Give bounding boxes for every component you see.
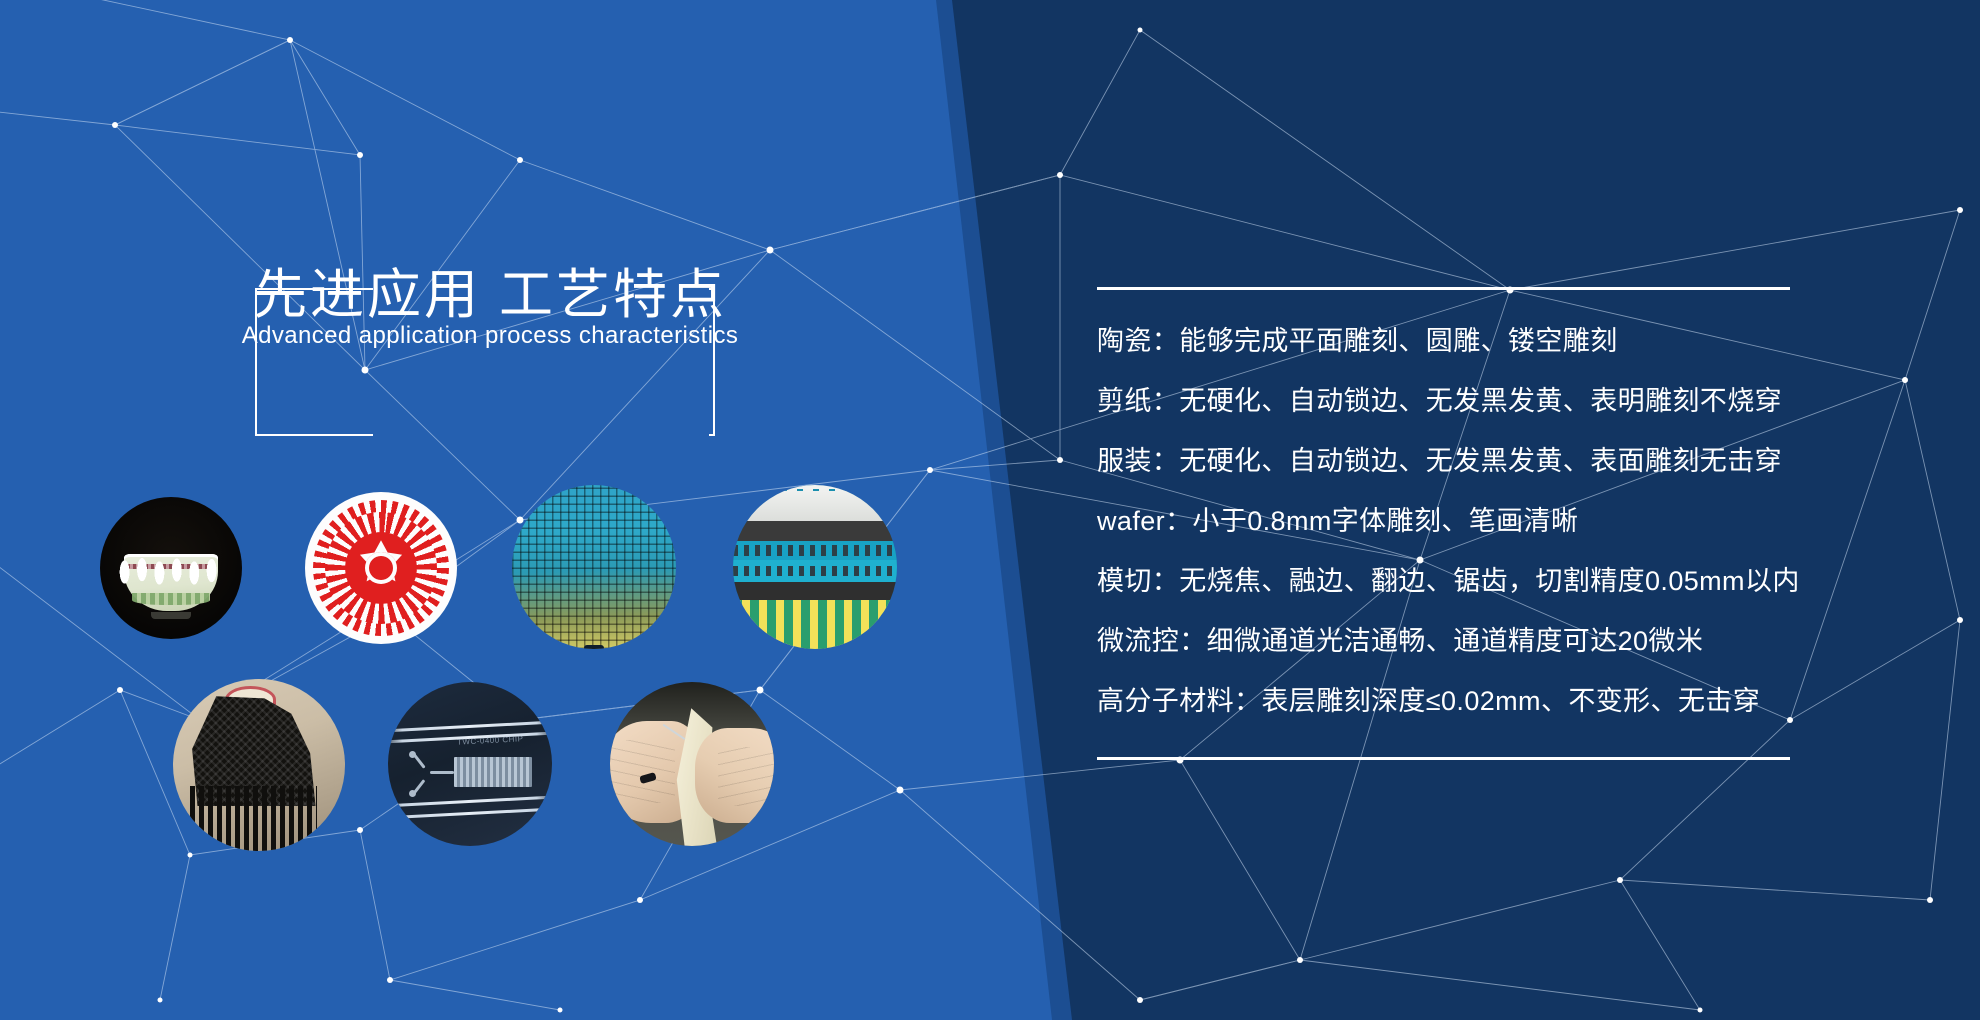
wafer-notch [584, 645, 604, 649]
band-dark-lower [733, 582, 897, 600]
microfluidic-chip-photo: TWC-0400 CHIP [388, 682, 552, 846]
spec-divider-bottom [1097, 757, 1790, 760]
banner-stage: 先进应用 工艺特点 Advanced application process c… [0, 0, 1980, 1020]
band-yellow [733, 600, 897, 649]
spec-item-ceramic: 陶瓷：能够完成平面雕刻、圆雕、镂空雕刻 [1097, 311, 1800, 371]
band-cyan-upper [733, 541, 897, 561]
spec-item-wafer: wafer：小于0.8mm字体雕刻、笔画清晰 [1097, 491, 1800, 551]
chip-y-channel [411, 751, 454, 794]
black-fringe-garment-photo [173, 679, 345, 851]
wafer-die-grid [512, 485, 676, 649]
band-white-dots [733, 489, 897, 492]
bowl-foot [151, 612, 191, 619]
spec-list: 陶瓷：能够完成平面雕刻、圆雕、镂空雕刻 剪纸：无硬化、自动锁边、无发黑发黄、表明… [1097, 311, 1800, 731]
y-stem [430, 771, 454, 774]
chip-micro-channel-array [454, 757, 533, 787]
garment-fringe [190, 786, 317, 851]
polymer-film-peel-photo [610, 682, 774, 846]
frame-bottom-edge [255, 434, 373, 436]
title-frame: 先进应用 工艺特点 Advanced application process c… [255, 288, 715, 436]
spec-item-apparel: 服装：无硬化、自动锁边、无发黑发黄、表面雕刻无击穿 [1097, 431, 1800, 491]
spec-item-polymer: 高分子材料：表层雕刻深度≤0.02mm、不变形、无击穿 [1097, 671, 1800, 731]
bowl-rice-pattern [113, 548, 229, 596]
ceramic-bowl-photo [100, 497, 242, 639]
page-subtitle: Advanced application process characteris… [180, 322, 800, 350]
band-cyan-lower [733, 560, 897, 581]
band-dark-upper [733, 521, 897, 541]
lithography-bands-photo [733, 485, 897, 649]
spec-divider-top [1097, 287, 1790, 290]
red-papercut-photo [305, 492, 457, 644]
spec-item-microfluidics: 微流控：细微通道光洁通畅、通道精度可达20微米 [1097, 611, 1800, 671]
page-title: 先进应用 工艺特点 [180, 250, 800, 329]
band-white [733, 485, 897, 521]
gloved-hand-right [695, 728, 774, 823]
spec-item-papercut: 剪纸：无硬化、自动锁边、无发黑发黄、表明雕刻不烧穿 [1097, 371, 1800, 431]
frame-bottom-stub [709, 434, 715, 436]
spec-item-diecutting: 模切：无烧焦、融边、翻边、锯齿，切割精度0.05mm以内 [1097, 551, 1800, 611]
silicon-wafer-photo [512, 485, 676, 649]
